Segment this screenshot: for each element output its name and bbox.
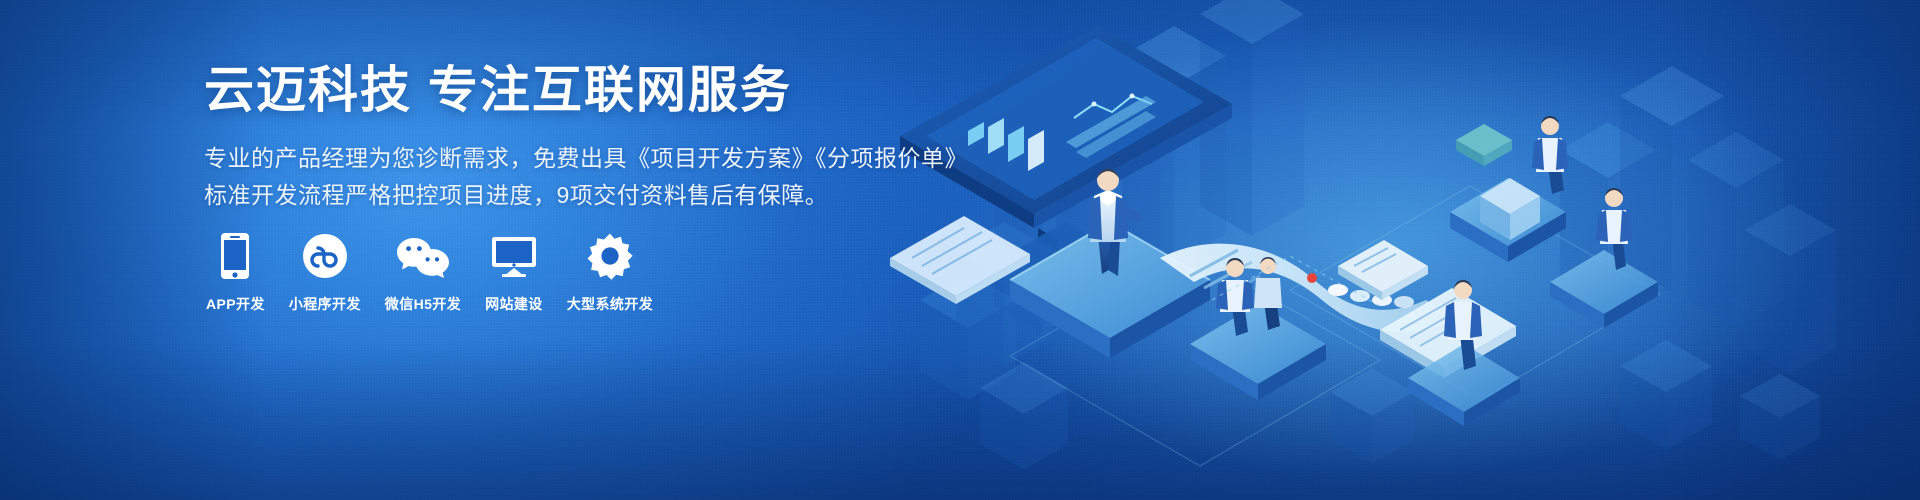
page-title: 云迈科技 专注互联网服务 bbox=[204, 62, 968, 118]
banner-copy: 云迈科技 专注互联网服务 专业的产品经理为您诊断需求，免费出具《项目开发方案》《… bbox=[204, 62, 968, 215]
service-item-app[interactable]: APP开发 bbox=[206, 232, 265, 314]
service-label: 小程序开发 bbox=[289, 294, 361, 314]
service-label: APP开发 bbox=[206, 294, 265, 314]
monitor-icon bbox=[490, 232, 538, 280]
subtitle-line-2: 标准开发流程严格把控项目进度，9项交付资料售后有保障。 bbox=[204, 177, 968, 214]
subtitle-line-1: 专业的产品经理为您诊断需求，免费出具《项目开发方案》《分项报价单》 bbox=[204, 140, 968, 177]
wechat-icon bbox=[396, 232, 450, 280]
service-item-wechat-h5[interactable]: 微信H5开发 bbox=[385, 232, 461, 314]
service-label: 微信H5开发 bbox=[385, 294, 461, 314]
service-item-mini-program[interactable]: 小程序开发 bbox=[289, 232, 361, 314]
mini-program-icon bbox=[302, 232, 348, 280]
gear-icon bbox=[586, 232, 634, 280]
mobile-phone-icon bbox=[218, 232, 252, 280]
isometric-team-dashboard-illustration bbox=[860, 0, 1920, 500]
service-item-website[interactable]: 网站建设 bbox=[485, 232, 543, 314]
promotional-banner: 云迈科技 专注互联网服务 专业的产品经理为您诊断需求，免费出具《项目开发方案》《… bbox=[0, 0, 1920, 500]
service-list: APP开发 小程序开发 微信 bbox=[206, 232, 653, 314]
service-label: 大型系统开发 bbox=[567, 294, 653, 314]
service-item-large-system[interactable]: 大型系统开发 bbox=[567, 232, 653, 314]
banner-subtitle: 专业的产品经理为您诊断需求，免费出具《项目开发方案》《分项报价单》 标准开发流程… bbox=[204, 140, 968, 215]
service-label: 网站建设 bbox=[485, 294, 543, 314]
